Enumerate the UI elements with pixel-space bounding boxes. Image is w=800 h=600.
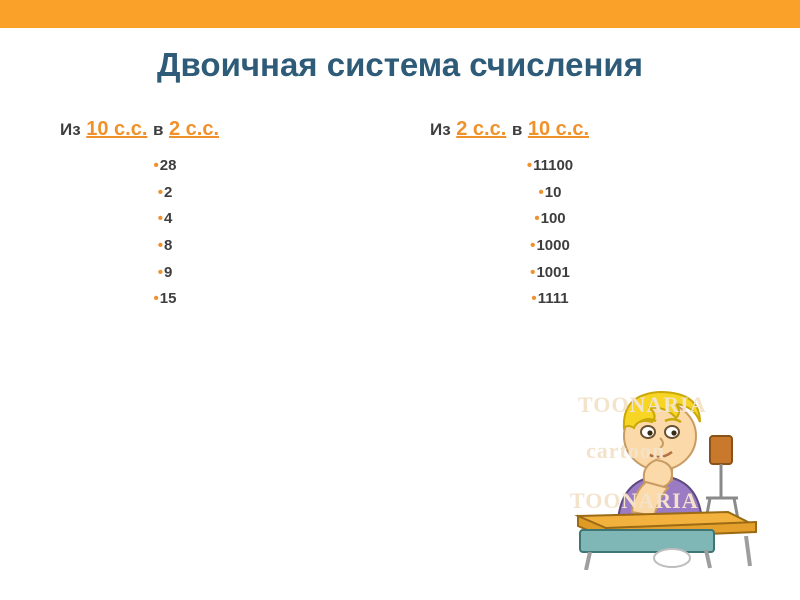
- watermark-line-1: TOONARIA: [578, 392, 707, 418]
- content-columns: Из 10 с.с. в 2 с.с. •28 •2 •4 •8 •9 •15 …: [0, 118, 800, 313]
- bullet-icon: •: [530, 237, 535, 254]
- bullet-icon: •: [530, 264, 535, 281]
- list-item: •11100: [430, 153, 670, 180]
- slide-title: Двоичная система счисления: [0, 46, 800, 84]
- list-item-value: 28: [160, 157, 177, 174]
- list-item-value: 8: [164, 237, 172, 254]
- heading-to-left: 2 с.с.: [169, 118, 219, 140]
- bullet-icon: •: [534, 210, 539, 227]
- list-item: •100: [430, 206, 670, 233]
- list-item: •4: [60, 206, 270, 233]
- list-item-value: 9: [164, 264, 172, 281]
- value-list-right: •11100 •10 •100 •1000 •1001 •1111: [430, 153, 800, 313]
- bullet-icon: •: [158, 264, 163, 281]
- column-from-10-to-2: Из 10 с.с. в 2 с.с. •28 •2 •4 •8 •9 •15: [0, 118, 400, 313]
- list-item: •15: [60, 286, 270, 313]
- list-item: •1001: [430, 260, 670, 287]
- list-item-value: 1111: [538, 290, 569, 307]
- list-item-value: 2: [164, 184, 172, 201]
- list-item-value: 15: [160, 290, 177, 307]
- heading-middle-left: в: [153, 120, 163, 139]
- value-list-left: •28 •2 •4 •8 •9 •15: [60, 153, 400, 313]
- list-item: •8: [60, 233, 270, 260]
- bullet-icon: •: [531, 290, 536, 307]
- bullet-icon: •: [527, 157, 532, 174]
- list-item: •1111: [430, 286, 670, 313]
- heading-middle-right: в: [512, 120, 522, 139]
- list-item: •10: [430, 180, 670, 207]
- bullet-icon: •: [158, 184, 163, 201]
- list-item-value: 1000: [536, 237, 569, 254]
- bullet-icon: •: [154, 157, 159, 174]
- bullet-icon: •: [539, 184, 544, 201]
- list-item: •2: [60, 180, 270, 207]
- column-heading-left: Из 10 с.с. в 2 с.с.: [60, 118, 400, 141]
- heading-from-left: 10 с.с.: [86, 118, 147, 140]
- list-item-value: 10: [545, 184, 562, 201]
- heading-from-right: 2 с.с.: [456, 118, 506, 140]
- bullet-icon: •: [158, 237, 163, 254]
- list-item: •1000: [430, 233, 670, 260]
- boy-at-desk-illustration: TOONARIA cartoon TOONARIA: [560, 370, 790, 570]
- list-item-value: 4: [164, 210, 172, 227]
- list-item-value: 100: [541, 210, 566, 227]
- top-accent-bar: [0, 0, 800, 28]
- bullet-icon: •: [154, 290, 159, 307]
- column-heading-right: Из 2 с.с. в 10 с.с.: [430, 118, 800, 141]
- watermark-line-3: TOONARIA: [570, 488, 699, 514]
- bullet-icon: •: [158, 210, 163, 227]
- heading-to-right: 10 с.с.: [528, 118, 589, 140]
- heading-prefix-left: Из: [60, 120, 81, 139]
- list-item: •9: [60, 260, 270, 287]
- column-from-2-to-10: Из 2 с.с. в 10 с.с. •11100 •10 •100 •100…: [400, 118, 800, 313]
- heading-prefix-right: Из: [430, 120, 451, 139]
- list-item: •28: [60, 153, 270, 180]
- list-item-value: 1001: [536, 264, 569, 281]
- list-item-value: 11100: [533, 157, 573, 174]
- watermark-line-2: cartoon: [586, 438, 665, 464]
